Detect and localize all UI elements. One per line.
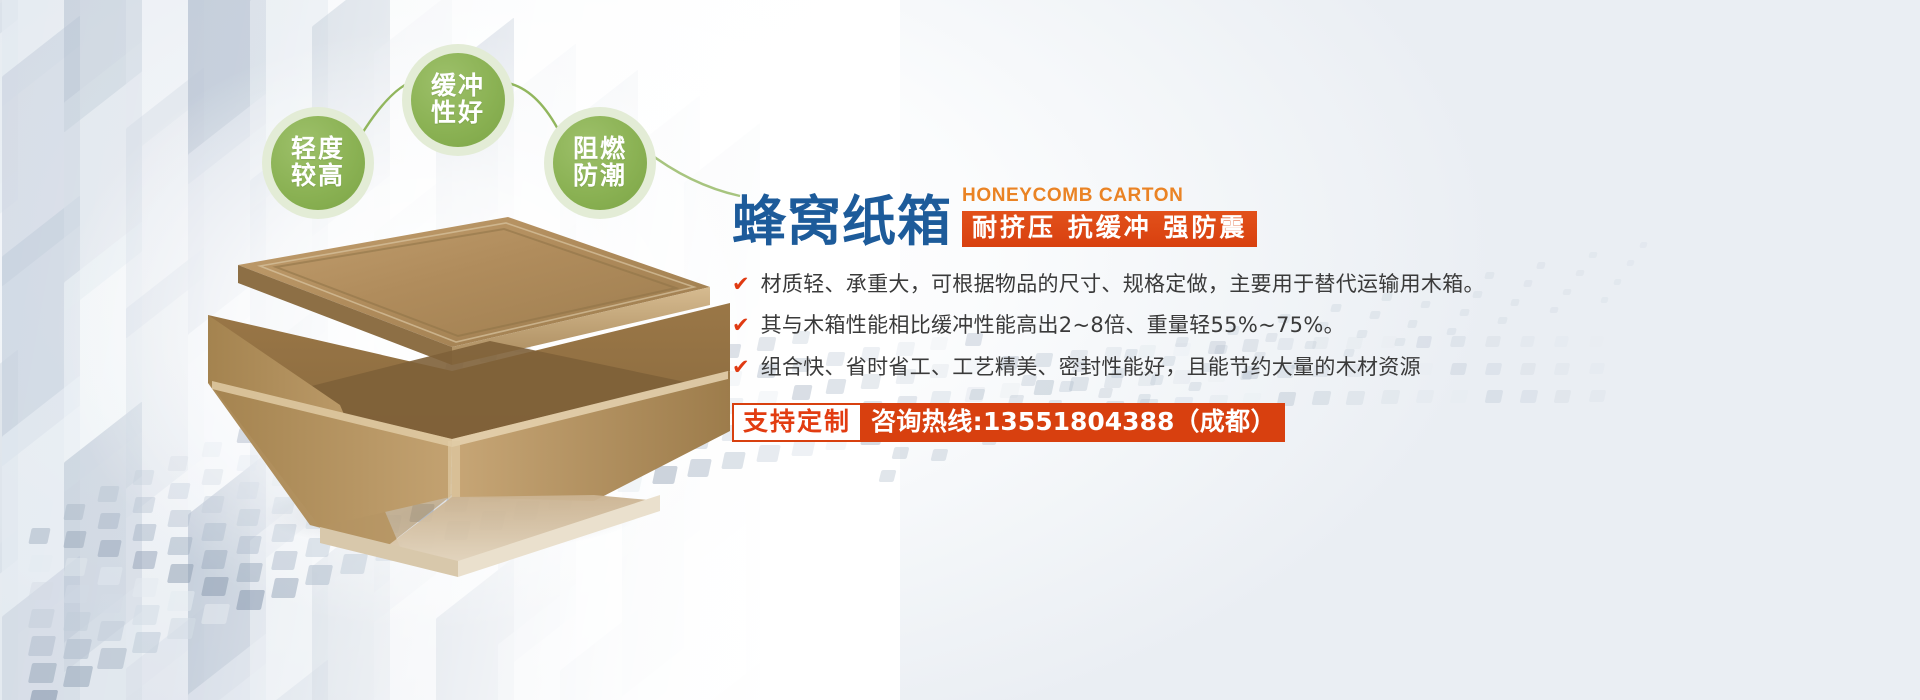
hotline-region: （成都） xyxy=(1174,407,1276,436)
feature-circle-label: 轻度较高 xyxy=(291,136,345,190)
check-icon: ✔ xyxy=(732,357,750,378)
feature-bullet-text: 组合快、省时省工、工艺精美、密封性能好，且能节约大量的木材资源 xyxy=(761,354,1421,380)
feature-circle-light-weight[interactable]: 轻度较高 xyxy=(262,107,374,219)
custom-made-tag: 支持定制 xyxy=(732,403,862,442)
swoosh-tile xyxy=(930,449,947,461)
swoosh-tile xyxy=(891,447,909,459)
text-panel: 蜂窝纸箱 HONEYCOMB CARTON 耐挤压 抗缓冲 强防震 ✔材质轻、承… xyxy=(732,186,1862,442)
slogan-banner: 耐挤压 抗缓冲 强防震 xyxy=(962,211,1257,247)
feature-bullet: ✔材质轻、承重大，可根据物品的尺寸、规格定做，主要用于替代运输用木箱。 xyxy=(732,271,1862,297)
english-subtitle: HONEYCOMB CARTON xyxy=(962,186,1257,205)
hotline-block[interactable]: 咨询热线:13551804388（成都） xyxy=(862,403,1285,442)
feature-circle-cushioning[interactable]: 缓冲性好 xyxy=(402,44,514,156)
feature-circle-label: 缓冲性好 xyxy=(431,73,485,127)
check-icon: ✔ xyxy=(732,315,750,336)
feature-bullet-list: ✔材质轻、承重大，可根据物品的尺寸、规格定做，主要用于替代运输用木箱。✔其与木箱… xyxy=(732,271,1862,380)
feature-bullet: ✔组合快、省时省工、工艺精美、密封性能好，且能节约大量的木材资源 xyxy=(732,354,1862,380)
hotline-number[interactable]: 13551804388 xyxy=(983,407,1174,436)
contact-bar[interactable]: 支持定制 咨询热线:13551804388（成都） xyxy=(732,403,1285,442)
feature-bullet: ✔其与木箱性能相比缓冲性能高出2~8倍、重量轻55%~75%。 xyxy=(732,312,1862,338)
promo-banner: 轻度较高缓冲性好阻燃防潮 蜂窝纸箱 HONEYCOMB CARTON 耐挤压 抗… xyxy=(0,0,1920,700)
feature-circle-label: 阻燃防潮 xyxy=(573,136,627,190)
page-title: 蜂窝纸箱 xyxy=(732,195,952,249)
feature-circle-flame-retardant[interactable]: 阻燃防潮 xyxy=(544,107,656,219)
title-right-block: HONEYCOMB CARTON 耐挤压 抗缓冲 强防震 xyxy=(962,186,1257,249)
feature-bullet-text: 其与木箱性能相比缓冲性能高出2~8倍、重量轻55%~75%。 xyxy=(761,312,1345,338)
swoosh-tile xyxy=(879,470,897,482)
hotline-label: 咨询热线: xyxy=(871,407,983,436)
check-icon: ✔ xyxy=(732,274,750,295)
title-row: 蜂窝纸箱 HONEYCOMB CARTON 耐挤压 抗缓冲 强防震 xyxy=(732,186,1862,249)
feature-circles-group: 轻度较高缓冲性好阻燃防潮 xyxy=(0,0,760,280)
feature-bullet-text: 材质轻、承重大，可根据物品的尺寸、规格定做，主要用于替代运输用木箱。 xyxy=(761,271,1485,297)
